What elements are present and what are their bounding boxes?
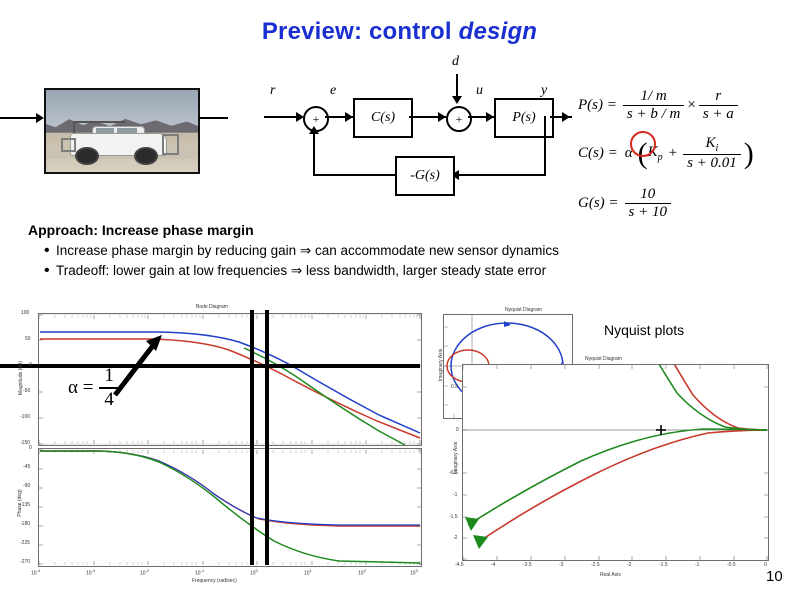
nyquist-main-green-lower <box>468 429 767 525</box>
plant-frac2-num: r <box>711 88 725 105</box>
page-title: Preview: control design <box>0 18 799 46</box>
mag-ytick-50: 50 <box>25 336 31 342</box>
sensor-den: s + 10 <box>625 203 671 221</box>
nyq-xtick-neg2p5: -2.5 <box>591 562 600 568</box>
nyquist-main-red-lower <box>477 430 767 543</box>
wire-u-arrowhead <box>486 112 494 122</box>
mag-ytick-100: 100 <box>21 310 29 316</box>
mag-ytick-0: 0 <box>29 362 32 368</box>
bullet-dot-icon: • <box>44 243 56 259</box>
autonomous-truck-desert-photo <box>44 88 200 174</box>
mag-ytick-neg50: -50 <box>23 388 30 394</box>
phase-ytick-neg270: -270 <box>20 559 30 565</box>
bullet-item-2: • Tradeoff: lower gain at low frequencie… <box>44 263 546 279</box>
freq-xtick-2: 10-3 <box>86 568 95 577</box>
bode-diagram-title: Bode Diagram <box>196 304 228 310</box>
phase-ytick-neg225: -225 <box>20 540 30 546</box>
freq-xtick-1: 10-4 <box>31 568 40 577</box>
freq-xtick-8: 103 <box>410 568 418 577</box>
nyq-xtick-neg0p5: -0.5 <box>727 562 736 568</box>
block-controller: C(s) <box>353 98 413 138</box>
nyquist-main-ylabel: Imaginary Axis <box>453 431 459 485</box>
plant-lhs: P(s) = <box>578 97 617 114</box>
wire-d-arrowhead <box>452 96 462 104</box>
sensor-num: 10 <box>636 186 659 203</box>
wire-y-down <box>544 116 546 176</box>
freq-xtick-7: 102 <box>358 568 366 577</box>
nyquist-inset-title: Nyquist Diagram <box>505 307 542 313</box>
nyq-ytick-0p5: 0.5 <box>451 384 458 390</box>
nyq-ytick-neg1: -1 <box>453 492 457 498</box>
bode-phase-ylabel: Phase (deg) <box>17 478 23 528</box>
bode-phase-series-green <box>40 451 420 563</box>
wire-y-to-G <box>451 174 546 176</box>
bullet-dot-icon: • <box>44 263 56 279</box>
bode-phase-plot <box>38 448 422 567</box>
freq-xtick-5: 100 <box>250 568 258 577</box>
nyq-ytick-neg1p5: -1.5 <box>449 514 458 520</box>
photo-output-arrow-line <box>198 117 228 119</box>
approach-heading: Approach: Increase phase margin <box>28 222 254 238</box>
wire-feedback-up <box>313 130 315 176</box>
block-sensor: -G(s) <box>395 156 455 196</box>
signal-label-u: u <box>476 83 483 99</box>
crossover-vline-2 <box>265 310 269 565</box>
nyq-xtick-neg1: -1 <box>695 562 699 568</box>
signal-label-e: e <box>330 83 336 99</box>
controller-integral-fraction: Ki s + 0.01 <box>683 135 741 172</box>
nyquist-main-svg <box>463 365 768 560</box>
wire-r-to-sum1 <box>264 116 298 118</box>
crossover-vline-1 <box>250 310 254 565</box>
plant-frac1-num: 1/ m <box>636 88 670 105</box>
wire-G-to-sum1 <box>313 174 396 176</box>
page-title-main: Preview: control <box>262 18 459 45</box>
mag-ytick-neg100: -100 <box>20 414 30 420</box>
freq-xtick-6: 101 <box>304 568 312 577</box>
sensor-fraction: 10 s + 10 <box>625 186 671 221</box>
bullet-text-1: Increase phase margin by reducing gain ⇒… <box>56 243 559 259</box>
nyquist-red-arrow-marker <box>473 535 488 549</box>
alpha-highlight-circle <box>630 131 656 157</box>
plant-fraction-2: r s + a <box>699 88 738 123</box>
phase-ytick-neg45: -45 <box>23 464 30 470</box>
wire-Csum-arrowhead <box>438 112 446 122</box>
sensor-lhs: G(s) = <box>578 195 619 212</box>
plant-frac1-den: s + b / m <box>623 105 684 123</box>
ki-den: s + 0.01 <box>683 154 741 172</box>
nyq-ytick-neg2: -2 <box>453 535 457 541</box>
nyq-xtick-neg3: -3 <box>559 562 563 568</box>
close-paren: ) <box>744 142 754 166</box>
plant-frac2-den: s + a <box>699 105 738 123</box>
equation-sensor: G(s) = 10 s + 10 <box>578 186 794 221</box>
bode-phase-series-blue <box>40 451 420 525</box>
bode-phase-svg <box>39 449 421 566</box>
photo-input-arrow-line <box>0 117 38 119</box>
nyquist-inset-ylabel: Imaginary Axis <box>438 340 444 390</box>
page-title-italic: design <box>459 18 538 45</box>
ki-num: Ki <box>702 135 723 154</box>
nyquist-main-red-upper <box>641 365 767 430</box>
bullet-item-1: • Increase phase margin by reducing gain… <box>44 243 559 259</box>
nyq-xtick-neg4p5: -4.5 <box>455 562 464 568</box>
nyquist-plots-label: Nyquist plots <box>604 322 684 338</box>
bode-magnitude-ylabel: Magnitude (dB) <box>18 348 24 408</box>
nyquist-main-xlabel: Real Axis <box>600 572 621 578</box>
wire-y-arrowhead <box>562 112 570 122</box>
bode-phase-series-red <box>40 451 420 526</box>
signal-label-d: d <box>452 54 459 70</box>
nyquist-main-plot <box>462 364 769 561</box>
bode-xlabel: Frequency (rad/sec) <box>192 578 237 584</box>
equation-controller: C(s) = α ( Kp + Ki s + 0.01 ) <box>578 135 794 172</box>
nyquist-green-arrow-marker <box>465 517 479 531</box>
phase-ytick-0: 0 <box>29 445 32 451</box>
equation-panel: P(s) = 1/ m s + b / m × r s + a C(s) = α… <box>578 88 794 230</box>
wire-feedback-arrowhead <box>309 126 319 134</box>
inset-arrow-top <box>504 321 511 327</box>
nyq-xtick-neg1p5: -1.5 <box>659 562 668 568</box>
nyq-xtick-neg4: -4 <box>491 562 495 568</box>
controller-plus: + <box>669 145 677 162</box>
nyq-xtick-neg2: -2 <box>627 562 631 568</box>
page-number: 10 <box>766 568 783 585</box>
phase-ytick-neg90: -90 <box>23 483 30 489</box>
signal-label-r: r <box>270 83 275 99</box>
signal-label-y: y <box>541 83 547 99</box>
zero-db-reference-line <box>0 364 420 368</box>
plant-times-symbol: × <box>687 97 695 114</box>
bullet-text-2: Tradeoff: lower gain at low frequencies … <box>56 263 546 279</box>
nyquist-main-title: Nyquist Diagram <box>585 356 622 362</box>
photo-input-arrow-head <box>36 113 44 123</box>
alpha-annotation-arrow <box>110 335 170 400</box>
freq-xtick-4: 10-1 <box>195 568 204 577</box>
controller-lhs: C(s) = <box>578 145 618 162</box>
freq-xtick-3: 10-2 <box>140 568 149 577</box>
alpha-annotation-label: α = <box>68 377 93 399</box>
summing-junction-2: + <box>446 106 472 132</box>
wire-e-arrowhead <box>345 112 353 122</box>
nyq-xtick-neg3p5: -3.5 <box>523 562 532 568</box>
plant-fraction-1: 1/ m s + b / m <box>623 88 684 123</box>
equation-plant: P(s) = 1/ m s + b / m × r s + a <box>578 88 794 123</box>
